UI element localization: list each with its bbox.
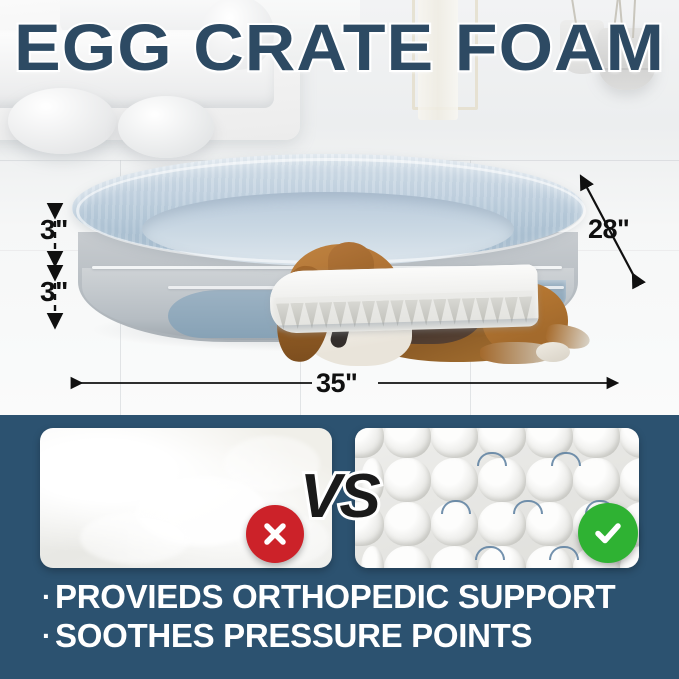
infographic-page: 3" 3" 28" 35" EGG CRATE FOAM [0,0,679,679]
dimension-label-bolster-height: 3" [40,214,68,246]
page-title: EGG CRATE FOAM [0,14,679,80]
benefit-text: SOOTHES PRESSURE POINTS [55,617,532,654]
foam-bump [620,428,639,458]
x-glyph [260,519,290,549]
fiber-wisp [80,512,190,564]
foam-bump [384,428,431,458]
foam-bump [384,458,431,502]
foam-bump [620,458,639,502]
dog-bed [72,140,592,360]
foam-bump [361,546,384,568]
hero-scene: 3" 3" 28" 35" EGG CRATE FOAM [0,0,679,415]
foam-bump [431,458,478,502]
vs-label: VS [300,466,379,528]
benefits-list: ·PROVIEDS ORTHOPEDIC SUPPORT ·SOOTHES PR… [42,578,662,655]
check-glyph [591,516,625,550]
x-icon [246,505,304,563]
foam-bump [431,428,478,458]
foam-bump [384,546,431,568]
foam-bump [384,502,431,546]
list-item: ·SOOTHES PRESSURE POINTS [42,617,662,656]
dog-paw [536,342,570,362]
foam-bump [573,428,620,458]
list-item: ·PROVIEDS ORTHOPEDIC SUPPORT [42,578,662,617]
foam-bump [431,546,478,568]
bullet-dot: · [42,620,51,651]
dimension-label-base-height: 3" [40,276,68,308]
check-icon [578,503,638,563]
bullet-dot: · [42,581,51,612]
benefit-text: PROVIEDS ORTHOPEDIC SUPPORT [55,578,615,615]
dimension-label-width: 35" [316,368,357,399]
dimension-label-depth: 28" [588,214,629,245]
foam-bump [355,428,384,458]
